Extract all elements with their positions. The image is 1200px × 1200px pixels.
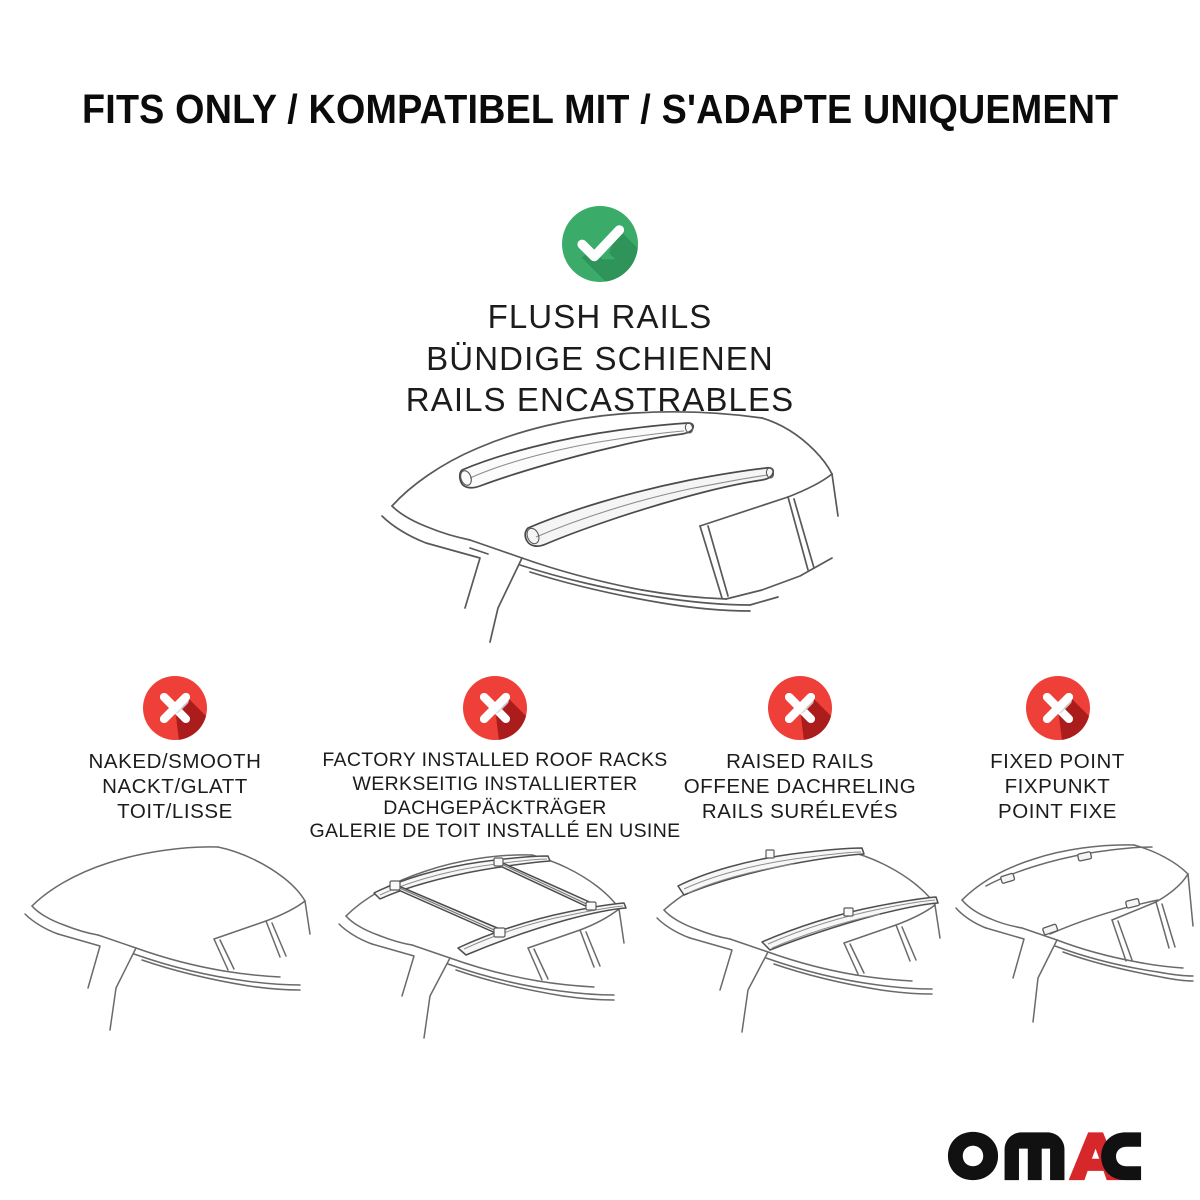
incompatible-item-raised-rails: RAISED RAILS OFFENE DACHRELING RAILS SUR…	[660, 676, 940, 824]
green-check-circle-icon	[562, 206, 638, 282]
label-line-en: RAISED RAILS	[660, 749, 940, 774]
page-title-text: FITS ONLY / KOMPATIBEL MIT / S'ADAPTE UN…	[82, 86, 1118, 133]
incompatible-illustrations	[0, 838, 1200, 1048]
omac-logo-icon	[947, 1130, 1142, 1182]
label-line-de-1: WERKSEITIG INSTALLIERTER	[300, 773, 690, 797]
car-roof-raised-rails-illustration	[648, 838, 948, 1038]
label-line-en: FIXED POINT	[945, 749, 1170, 774]
incompatible-labels: RAISED RAILS OFFENE DACHRELING RAILS SUR…	[660, 749, 940, 824]
incompatible-labels: NAKED/SMOOTH NACKT/GLATT TOIT/LISSE	[45, 749, 305, 824]
incompatible-item-factory-roof-racks: FACTORY INSTALLED ROOF RACKS WERKSEITIG …	[300, 676, 690, 844]
label-line-de: FIXPUNKT	[945, 774, 1170, 799]
label-line-fr: RAILS SURÉLEVÉS	[660, 799, 940, 824]
incompatible-labels: FIXED POINT FIXPUNKT POINT FIXE	[945, 749, 1170, 824]
compatible-label-de: BÜNDIGE SCHIENEN	[0, 338, 1200, 380]
label-line-de: OFFENE DACHRELING	[660, 774, 940, 799]
label-line-fr: TOIT/LISSE	[45, 799, 305, 824]
incompatible-item-fixed-point: FIXED POINT FIXPUNKT POINT FIXE	[945, 676, 1170, 824]
label-line-en: FACTORY INSTALLED ROOF RACKS	[300, 749, 690, 773]
red-x-circle-icon	[1026, 676, 1090, 740]
red-x-circle-icon	[768, 676, 832, 740]
incompatible-item-naked-smooth: NAKED/SMOOTH NACKT/GLATT TOIT/LISSE	[45, 676, 305, 824]
compatible-label-en: FLUSH RAILS	[0, 296, 1200, 338]
page-title: FITS ONLY / KOMPATIBEL MIT / S'ADAPTE UN…	[0, 86, 1200, 133]
car-roof-fixed-point-illustration	[950, 838, 1195, 1028]
car-roof-flush-rails-illustration	[370, 398, 840, 643]
label-line-fr: POINT FIXE	[945, 799, 1170, 824]
car-roof-factory-racks-illustration	[330, 838, 640, 1043]
incompatible-labels: FACTORY INSTALLED ROOF RACKS WERKSEITIG …	[300, 749, 690, 844]
compatible-section: FLUSH RAILS BÜNDIGE SCHIENEN RAILS ENCAS…	[0, 206, 1200, 421]
label-line-de-2: DACHGEPÄCKTRÄGER	[300, 797, 690, 821]
label-line-en: NAKED/SMOOTH	[45, 749, 305, 774]
brand-logo	[947, 1130, 1142, 1182]
label-line-de: NACKT/GLATT	[45, 774, 305, 799]
incompatible-section: NAKED/SMOOTH NACKT/GLATT TOIT/LISSE	[0, 676, 1200, 856]
red-x-circle-icon	[143, 676, 207, 740]
car-roof-naked-illustration	[18, 838, 318, 1038]
compatibility-infographic: FITS ONLY / KOMPATIBEL MIT / S'ADAPTE UN…	[0, 0, 1200, 1200]
red-x-circle-icon	[463, 676, 527, 740]
